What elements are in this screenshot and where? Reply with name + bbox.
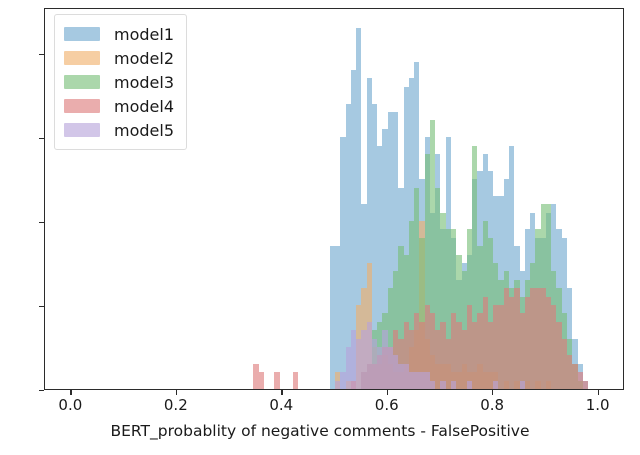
histogram-bar <box>493 381 498 389</box>
legend-swatch-icon <box>64 99 100 113</box>
legend-label: model2 <box>114 49 174 68</box>
legend-item-model4: model4 <box>64 94 174 118</box>
legend-label: model4 <box>114 97 174 116</box>
legend-item-model5: model5 <box>64 118 174 142</box>
y-tick-mark <box>39 138 44 139</box>
histogram-bar <box>274 372 279 389</box>
legend-item-model3: model3 <box>64 70 174 94</box>
x-tick-label: 0.0 <box>58 396 82 414</box>
legend-item-model1: model1 <box>64 22 174 46</box>
legend: model1model2model3model4model5 <box>54 14 187 150</box>
x-tick-label: 0.4 <box>269 396 293 414</box>
histogram-bar <box>467 381 472 389</box>
y-tick-mark <box>39 390 44 391</box>
histogram-bar <box>583 381 588 389</box>
histogram-bar <box>430 381 435 389</box>
y-tick-mark <box>39 54 44 55</box>
x-tick-mark <box>281 390 282 395</box>
x-tick-label: 0.2 <box>164 396 188 414</box>
legend-swatch-icon <box>64 27 100 41</box>
x-tick-mark <box>387 390 388 395</box>
legend-label: model5 <box>114 121 174 140</box>
histogram-bar <box>259 372 264 389</box>
histogram-bar <box>451 381 456 389</box>
y-tick-mark <box>39 306 44 307</box>
histogram-figure: 0.00.20.40.60.81.0010203040 BERT_probabl… <box>0 0 640 455</box>
x-tick-mark <box>70 390 71 395</box>
legend-label: model3 <box>114 73 174 92</box>
histogram-bar <box>440 381 445 389</box>
x-tick-label: 1.0 <box>586 396 610 414</box>
x-tick-label: 0.6 <box>375 396 399 414</box>
x-tick-label: 0.8 <box>480 396 504 414</box>
legend-swatch-icon <box>64 123 100 137</box>
histogram-bar <box>520 381 525 389</box>
y-tick-mark <box>39 222 44 223</box>
legend-item-model2: model2 <box>64 46 174 70</box>
histogram-bar <box>293 372 298 389</box>
x-tick-mark <box>492 390 493 395</box>
x-axis-label: BERT_probablity of negative comments - F… <box>0 422 640 440</box>
legend-swatch-icon <box>64 75 100 89</box>
legend-swatch-icon <box>64 51 100 65</box>
x-tick-mark <box>598 390 599 395</box>
x-tick-mark <box>176 390 177 395</box>
legend-label: model1 <box>114 25 174 44</box>
